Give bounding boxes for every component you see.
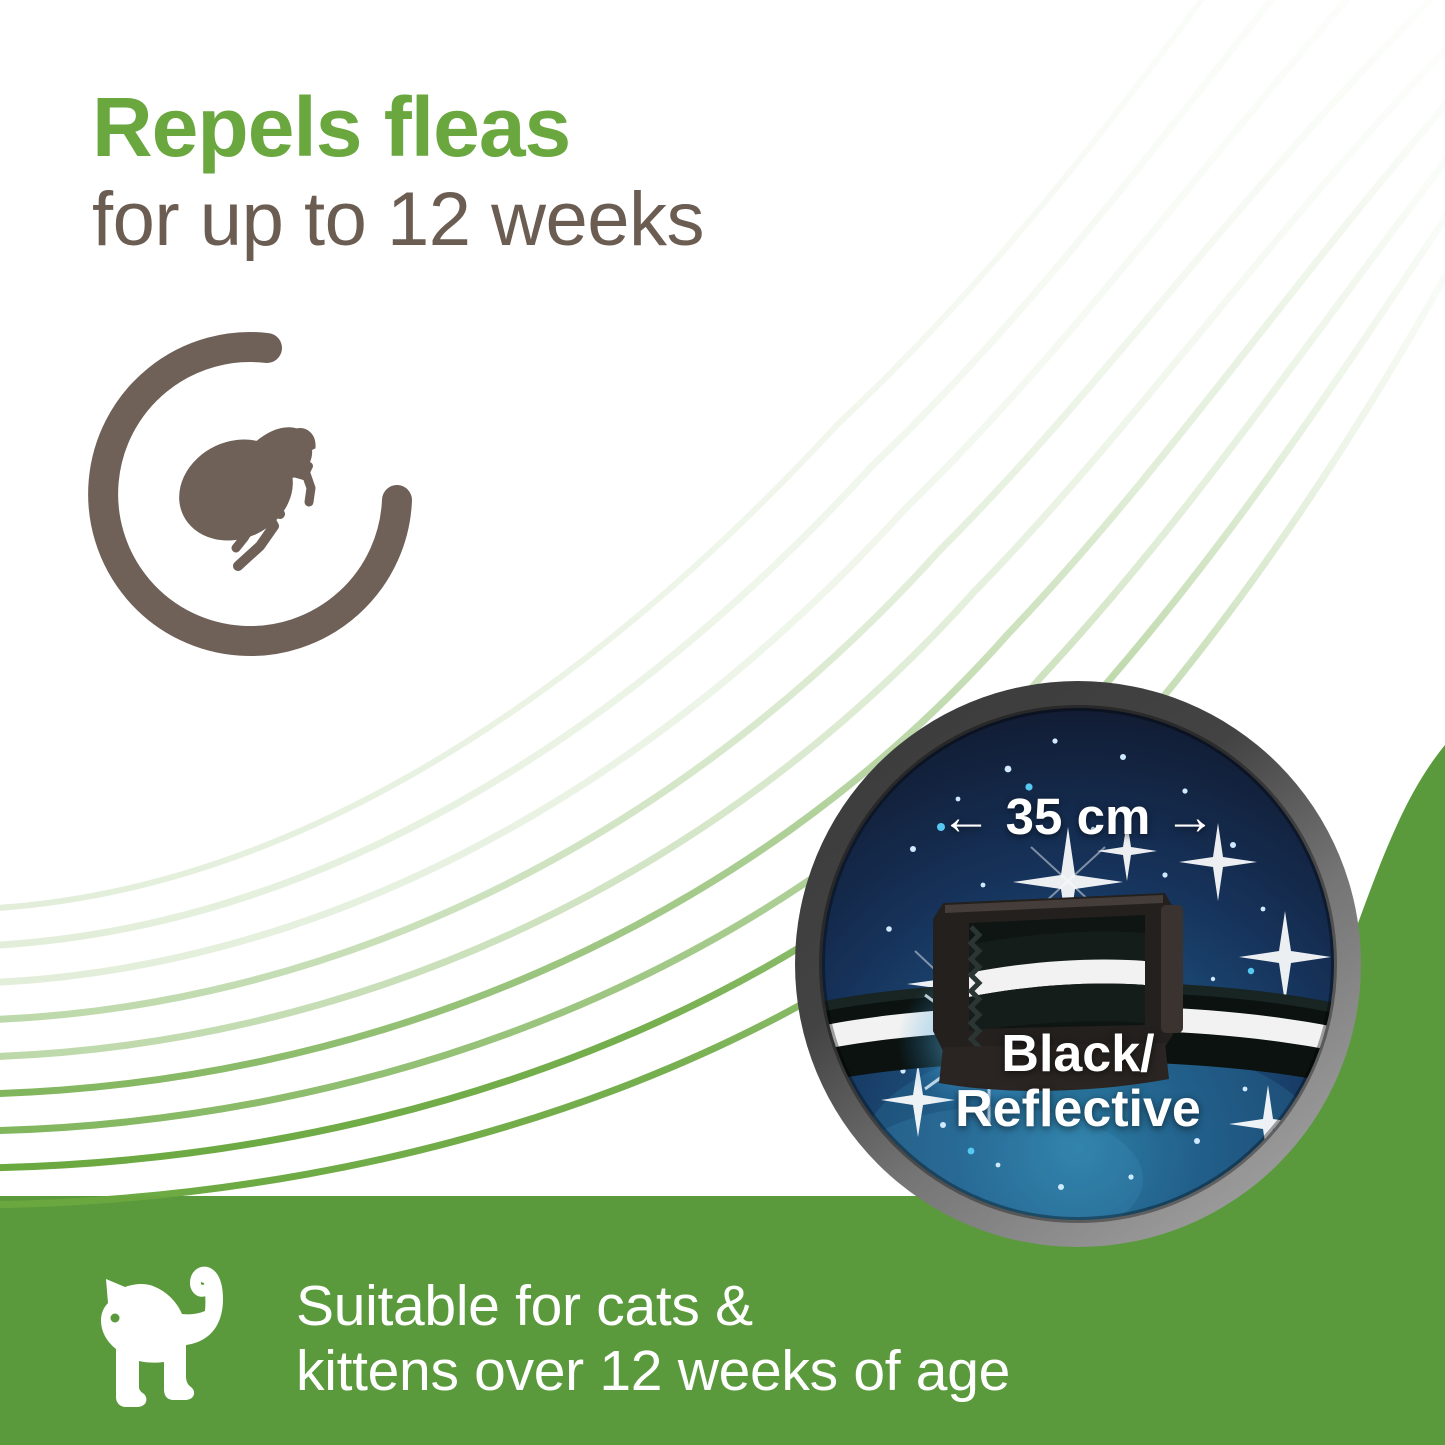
page-title: Repels fleas (92, 86, 992, 168)
collar-length-label: ← 35 cm → (793, 787, 1363, 846)
product-badge[interactable]: ← 35 cm → Black/ Reflective (793, 679, 1363, 1249)
headline-block: Repels fleas for up to 12 weeks (92, 86, 992, 258)
product-feature-panel: Repels fleas for up to 12 weeks (0, 0, 1445, 1445)
collar-color-label: Black/ Reflective (793, 1027, 1363, 1137)
cat-silhouette-icon (78, 1263, 243, 1408)
suitability-text: Suitable for cats & kittens over 12 week… (296, 1274, 1010, 1404)
flea-in-open-circle-icon (88, 330, 418, 660)
cat-icon-container (78, 1263, 243, 1408)
badge-graphic (793, 679, 1363, 1249)
page-subtitle: for up to 12 weeks (92, 182, 992, 258)
flea-icon-container (88, 330, 418, 660)
